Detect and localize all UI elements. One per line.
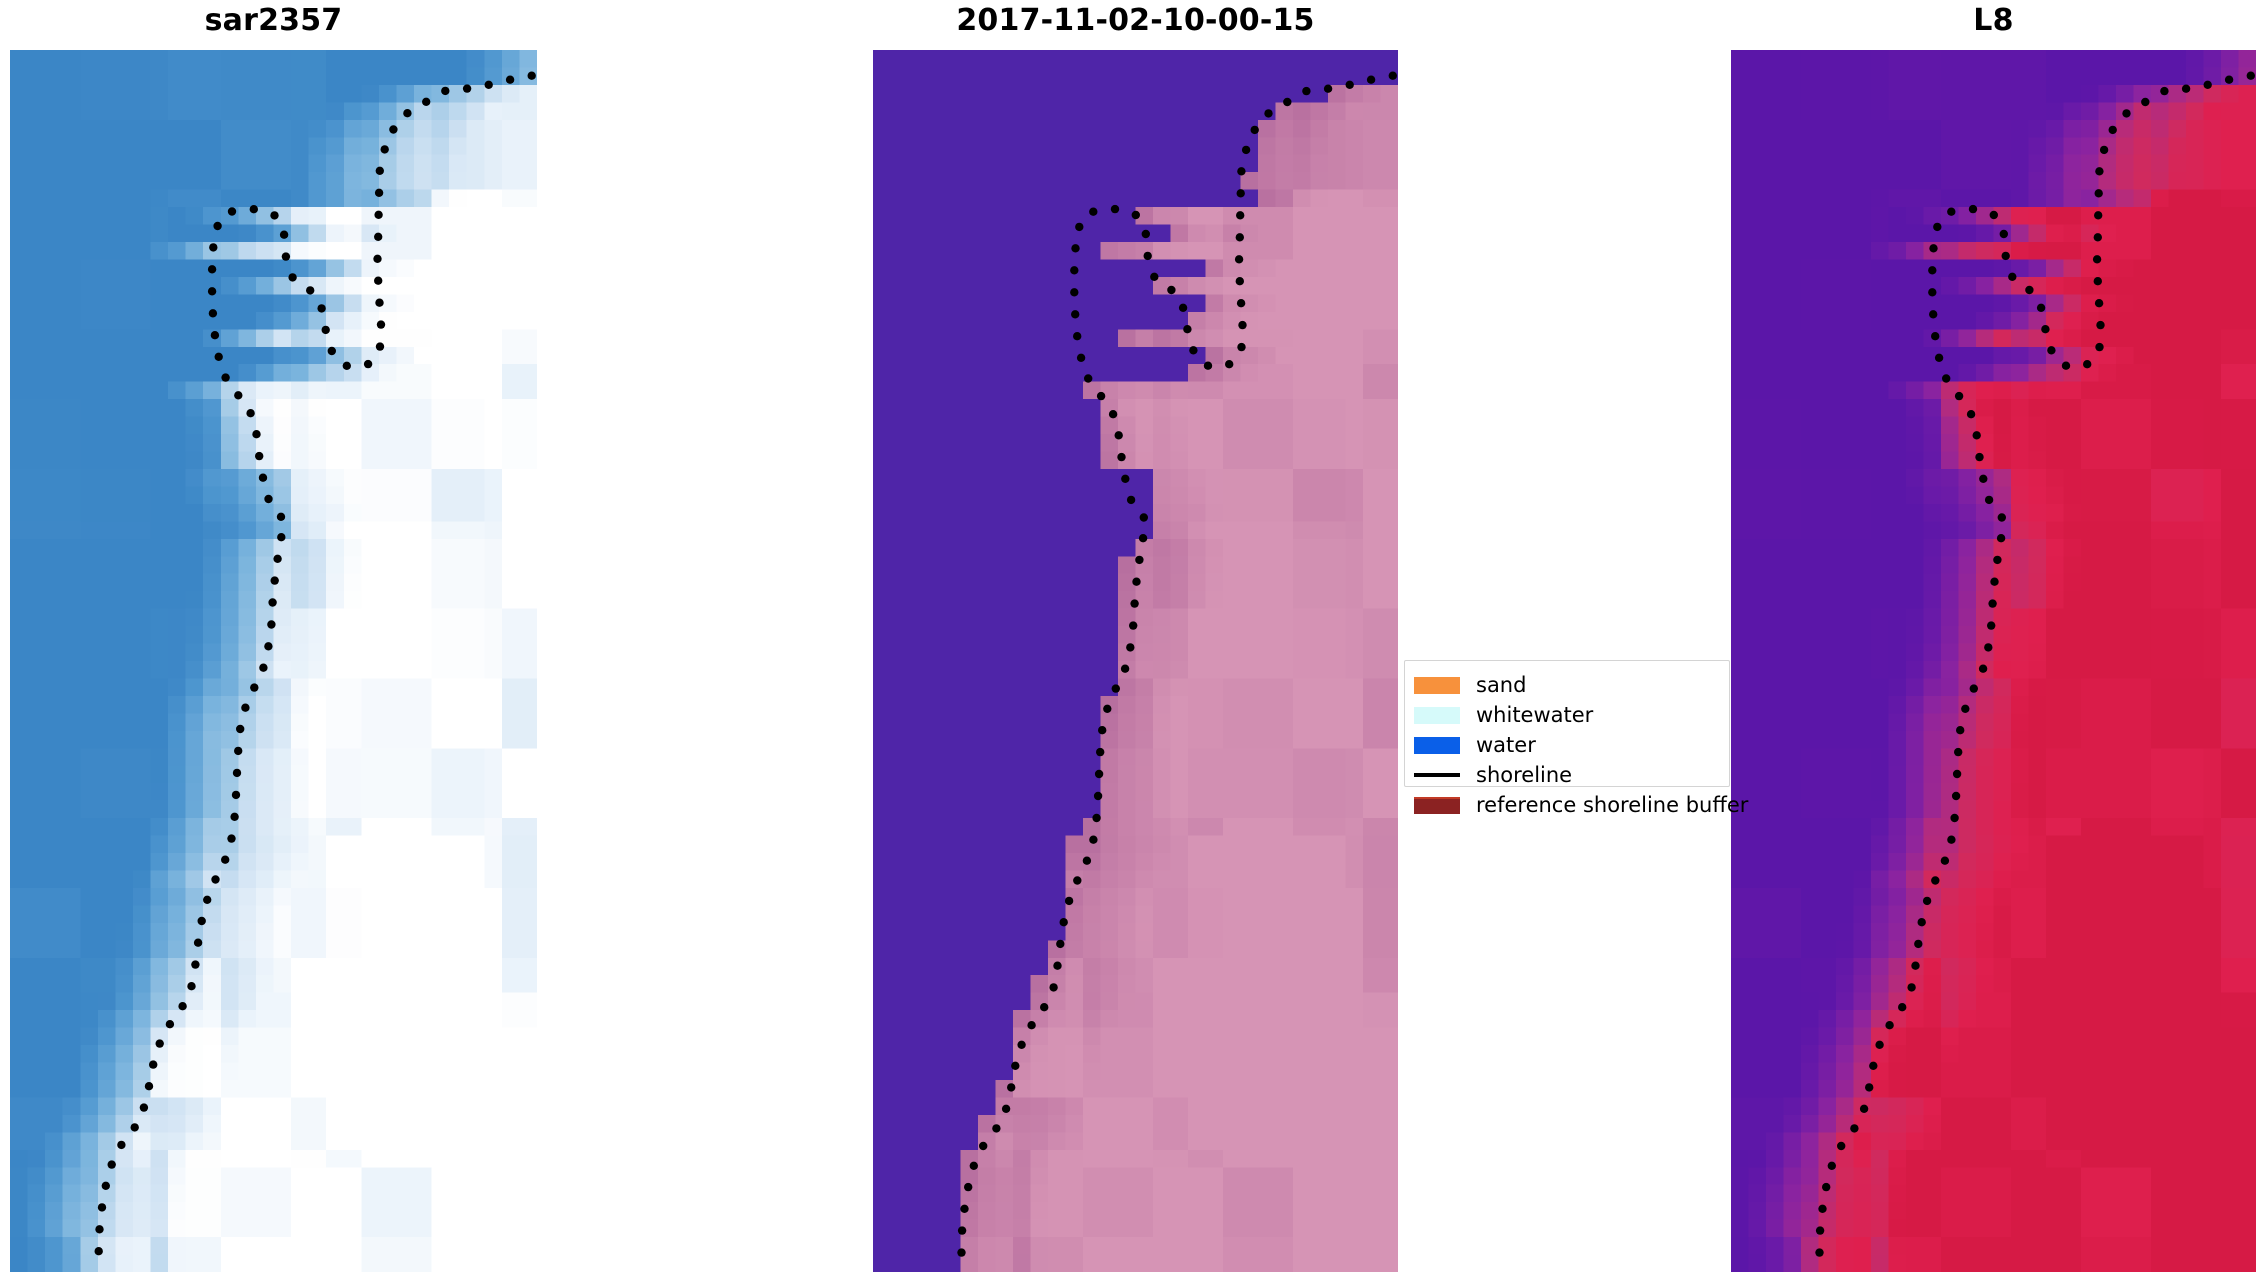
legend-swatch-shoreline [1414, 773, 1460, 777]
shoreline-overlay [10, 50, 537, 1272]
legend-item[interactable]: reference shoreline buffer [1414, 790, 1719, 820]
legend-swatch-whitewater [1414, 707, 1460, 724]
legend-label-shoreline: shoreline [1476, 765, 1572, 786]
panel-title-classified: 2017-11-02-10-00-15 [873, 4, 1398, 38]
shoreline-overlay [873, 50, 1398, 1272]
legend-swatch-water [1414, 737, 1460, 754]
legend-box[interactable]: sand whitewater water shoreline referenc… [1404, 660, 1730, 787]
legend-item[interactable]: sand [1414, 670, 1719, 700]
legend-label-sand: sand [1476, 675, 1526, 696]
legend-label-water: water [1476, 735, 1536, 756]
legend-swatch-reference-buffer [1414, 797, 1460, 814]
legend-label-reference-buffer: reference shoreline buffer [1476, 795, 1748, 816]
l8-image-panel[interactable] [1731, 50, 2256, 1272]
panel-title-sar: sar2357 [10, 4, 537, 38]
legend-swatch-sand [1414, 677, 1460, 694]
panel-title-l8: L8 [1731, 4, 2256, 38]
legend-item[interactable]: water [1414, 730, 1719, 760]
classified-image-panel[interactable] [873, 50, 1398, 1272]
shoreline-overlay [1731, 50, 2256, 1272]
legend-item[interactable]: shoreline [1414, 760, 1719, 790]
legend-label-whitewater: whitewater [1476, 705, 1593, 726]
shoreline-figure: sar2357 2017-11-02-10-00-15 L8 sand whit… [0, 0, 2266, 1283]
legend-item[interactable]: whitewater [1414, 700, 1719, 730]
sar-image-panel[interactable] [10, 50, 537, 1272]
